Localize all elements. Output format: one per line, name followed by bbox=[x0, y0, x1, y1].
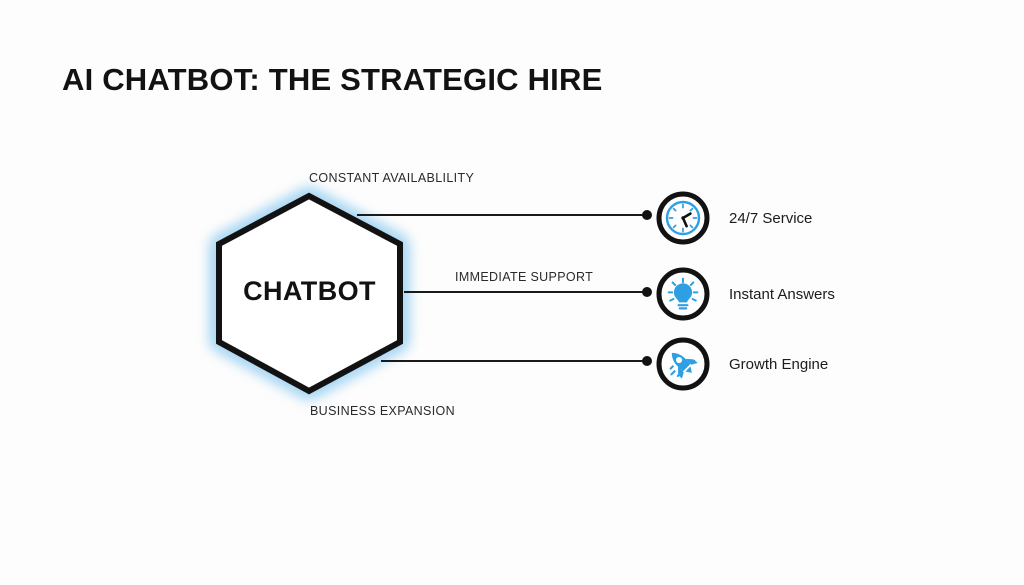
connector-dot-0 bbox=[642, 210, 652, 220]
connector-dot-1 bbox=[642, 287, 652, 297]
diagram-svg bbox=[0, 0, 1024, 585]
outcome-label-instant-answers: Instant Answers bbox=[729, 286, 835, 303]
hub-and-spoke-diagram: CHATBOT CONSTANT AVAILABLILITY IMMEDIATE… bbox=[0, 0, 1024, 585]
branch-caption-business-expansion: BUSINESS EXPANSION bbox=[310, 404, 455, 418]
hub-label: CHATBOT bbox=[218, 276, 401, 307]
rocket-icon bbox=[655, 336, 711, 392]
outcome-label-growth-engine: Growth Engine bbox=[729, 356, 828, 373]
slide-canvas: AI CHATBOT: THE STRATEGIC HIRE bbox=[0, 0, 1024, 585]
clock-icon bbox=[655, 190, 711, 246]
branch-caption-immediate-support: IMMEDIATE SUPPORT bbox=[455, 270, 593, 284]
connector-dot-2 bbox=[642, 356, 652, 366]
outcome-label-24-7-service: 24/7 Service bbox=[729, 210, 812, 227]
outcome-row-growth-engine: Growth Engine bbox=[655, 336, 828, 392]
branch-caption-constant-availability: CONSTANT AVAILABLILITY bbox=[309, 171, 474, 185]
outcome-row-instant-answers: Instant Answers bbox=[655, 266, 835, 322]
lightbulb-icon bbox=[655, 266, 711, 322]
outcome-row-24-7-service: 24/7 Service bbox=[655, 190, 812, 246]
